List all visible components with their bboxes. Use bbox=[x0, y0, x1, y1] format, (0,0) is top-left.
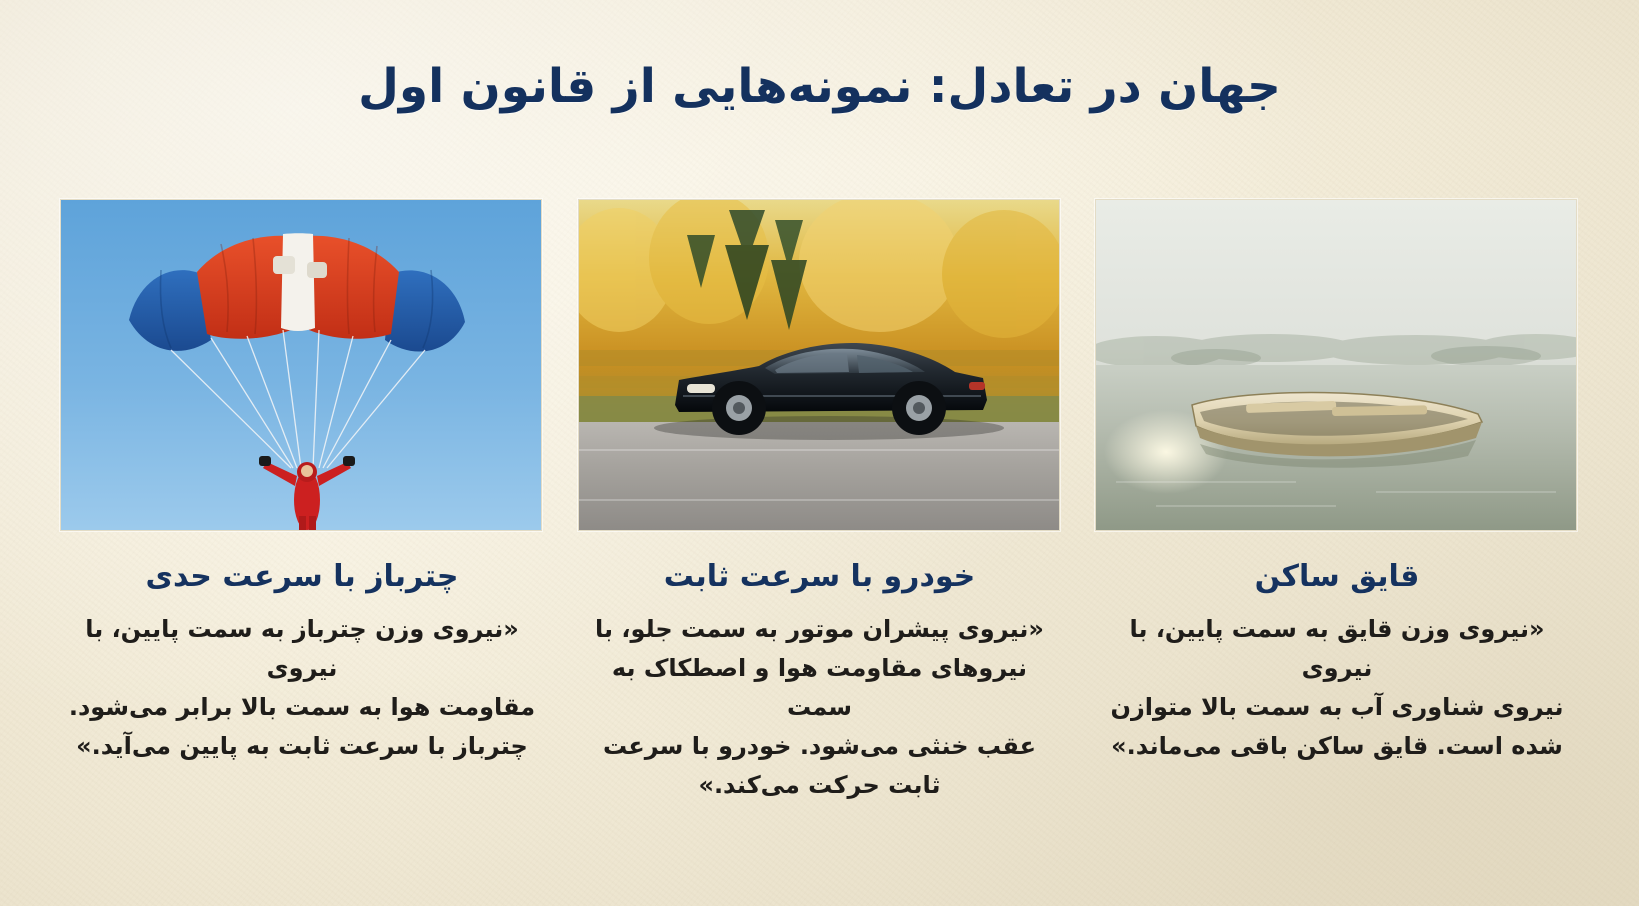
body-line: «نیروی وزن چترباز به سمت پایین، با نیروی bbox=[68, 610, 536, 688]
body-line: نیروهای مقاومت هوا و اصطکاک به سمت bbox=[586, 649, 1054, 727]
card-constant-speed-car: خودرو با سرعت ثابت «نیروی پیشران موتور ب… bbox=[580, 199, 1060, 804]
body-line: مقاومت هوا به سمت بالا برابر می‌شود. bbox=[68, 688, 536, 727]
card-terminal-velocity-skydiver: چترباز با سرعت حدی «نیروی وزن چترباز به … bbox=[62, 199, 542, 766]
still-boat-on-misty-lake-photo bbox=[1095, 199, 1577, 531]
body-line: عقب خنثی می‌شود. خودرو با سرعت bbox=[586, 727, 1054, 766]
card-body: «نیروی پیشران موتور به سمت جلو، با نیروه… bbox=[580, 610, 1060, 804]
body-line: شده است. قایق ساکن باقی می‌ماند.» bbox=[1103, 727, 1571, 766]
body-line: «نیروی وزن قایق به سمت پایین، با نیروی bbox=[1103, 610, 1571, 688]
body-line: چترباز با سرعت ثابت به پایین می‌آید.» bbox=[68, 727, 536, 766]
card-body: «نیروی وزن قایق به سمت پایین، با نیروی ن… bbox=[1097, 610, 1577, 766]
body-line: «نیروی پیشران موتور به سمت جلو، با bbox=[586, 610, 1054, 649]
card-title: خودرو با سرعت ثابت bbox=[580, 557, 1060, 596]
skydiver-at-terminal-velocity-photo bbox=[60, 199, 542, 531]
card-title: چترباز با سرعت حدی bbox=[62, 557, 542, 596]
card-title: قایق ساکن bbox=[1097, 557, 1577, 596]
slide-root: جهان در تعادل: نمونه‌هایی از قانون اول bbox=[0, 0, 1639, 906]
card-body: «نیروی وزن چترباز به سمت پایین، با نیروی… bbox=[62, 610, 542, 766]
card-row: قایق ساکن «نیروی وزن قایق به سمت پایین، … bbox=[62, 199, 1577, 804]
card-still-boat: قایق ساکن «نیروی وزن قایق به سمت پایین، … bbox=[1097, 199, 1577, 766]
page-title: جهان در تعادل: نمونه‌هایی از قانون اول bbox=[0, 58, 1639, 117]
body-line: نیروی شناوری آب به سمت بالا متوازن bbox=[1103, 688, 1571, 727]
car-at-constant-speed-photo bbox=[578, 199, 1060, 531]
body-line: ثابت حرکت می‌کند.» bbox=[586, 766, 1054, 805]
